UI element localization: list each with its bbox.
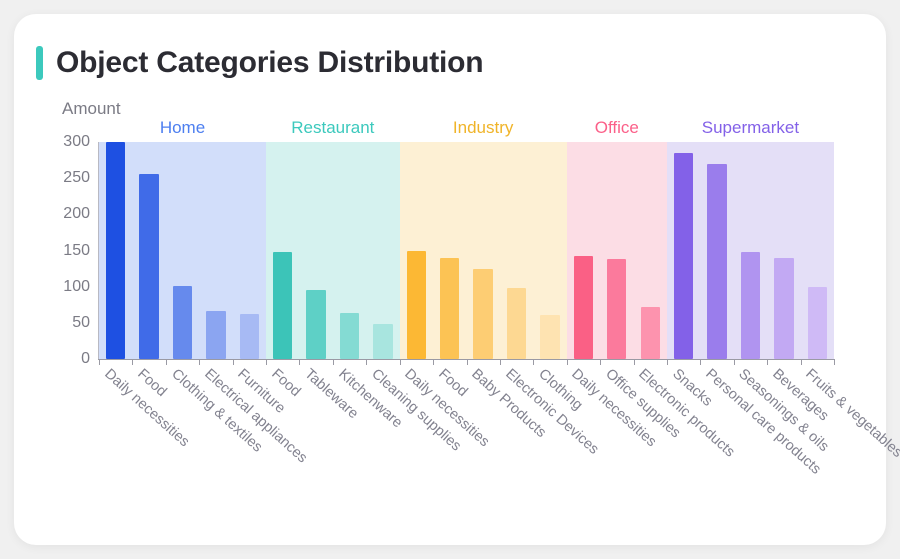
- bar-slot[interactable]: [199, 142, 232, 359]
- bar-group-office: Office: [567, 142, 667, 359]
- bar-slot[interactable]: [166, 142, 199, 359]
- group-label-restaurant: Restaurant: [266, 118, 400, 138]
- bar-slot[interactable]: [767, 142, 800, 359]
- group-label-supermarket: Supermarket: [667, 118, 834, 138]
- x-axis-tick-mark: [500, 359, 501, 365]
- x-axis-tick-mark: [132, 359, 133, 365]
- x-axis-tick-mark: [266, 359, 267, 365]
- y-axis-tick-label: 50: [72, 314, 90, 332]
- bar[interactable]: [641, 307, 660, 359]
- x-axis-tick-mark: [767, 359, 768, 365]
- bar-slot[interactable]: [567, 142, 600, 359]
- x-axis-tick-mark: [333, 359, 334, 365]
- y-axis-tick-label: 0: [81, 350, 90, 368]
- group-label-industry: Industry: [400, 118, 567, 138]
- bar[interactable]: [206, 311, 225, 359]
- bar[interactable]: [607, 259, 626, 359]
- screenshot-root: Object Categories Distribution Amount 30…: [0, 0, 900, 559]
- x-axis-tick-mark: [199, 359, 200, 365]
- x-axis-tick-mark: [433, 359, 434, 365]
- bar-slot[interactable]: [500, 142, 533, 359]
- bar[interactable]: [808, 287, 827, 359]
- bar[interactable]: [273, 252, 292, 359]
- bar[interactable]: [707, 164, 726, 359]
- x-axis-tick-mark: [667, 359, 668, 365]
- x-axis-tick-mark: [166, 359, 167, 365]
- bar[interactable]: [473, 269, 492, 359]
- x-axis-tick-mark: [600, 359, 601, 365]
- bar-slot[interactable]: [333, 142, 366, 359]
- bar-slot[interactable]: [233, 142, 266, 359]
- bar-slot[interactable]: [533, 142, 566, 359]
- x-axis-tick-mark: [233, 359, 234, 365]
- bar-group-industry: Industry: [400, 142, 567, 359]
- bar-slot[interactable]: [366, 142, 399, 359]
- x-axis-tick-mark: [299, 359, 300, 365]
- bar[interactable]: [774, 258, 793, 359]
- x-axis-tick-mark: [734, 359, 735, 365]
- x-axis-tick-mark: [533, 359, 534, 365]
- y-axis-tick-label: 200: [63, 205, 90, 223]
- y-axis-tick-label: 250: [63, 169, 90, 187]
- bar[interactable]: [540, 315, 559, 359]
- bar[interactable]: [407, 251, 426, 360]
- bar[interactable]: [106, 142, 125, 359]
- bar-slot[interactable]: [667, 142, 700, 359]
- bar-slot[interactable]: [801, 142, 834, 359]
- chart-card: Object Categories Distribution Amount 30…: [14, 14, 886, 545]
- x-axis-tick-mark: [801, 359, 802, 365]
- bar[interactable]: [574, 256, 593, 359]
- bar[interactable]: [507, 288, 526, 359]
- x-axis-tick-mark: [99, 359, 100, 365]
- bar-slot[interactable]: [734, 142, 767, 359]
- bar-group-home: Home: [99, 142, 266, 359]
- bar-slot[interactable]: [634, 142, 667, 359]
- plot-area: 300250200150100500 HomeRestaurantIndustr…: [99, 142, 834, 359]
- x-axis-tick-mark: [834, 359, 835, 365]
- bar[interactable]: [340, 313, 359, 359]
- y-axis-tick-label: 150: [63, 242, 90, 260]
- bar-slot[interactable]: [266, 142, 299, 359]
- x-axis-tick-mark: [700, 359, 701, 365]
- bar[interactable]: [173, 286, 192, 359]
- bar-slot[interactable]: [299, 142, 332, 359]
- bar[interactable]: [741, 252, 760, 359]
- x-axis-tick-mark: [634, 359, 635, 365]
- bar[interactable]: [306, 290, 325, 359]
- bar-slot[interactable]: [433, 142, 466, 359]
- x-axis-tick-mark: [400, 359, 401, 365]
- bar-group-restaurant: Restaurant: [266, 142, 400, 359]
- bar[interactable]: [240, 314, 259, 359]
- bar[interactable]: [440, 258, 459, 359]
- page-title: Object Categories Distribution: [56, 46, 483, 80]
- group-label-home: Home: [99, 118, 266, 138]
- card-header: Object Categories Distribution: [36, 46, 483, 80]
- y-axis-tick-label: 300: [63, 133, 90, 151]
- title-accent-bar: [36, 46, 43, 80]
- bar[interactable]: [139, 174, 158, 359]
- bar-slot[interactable]: [99, 142, 132, 359]
- bar-slot[interactable]: [700, 142, 733, 359]
- x-axis-tick-mark: [567, 359, 568, 365]
- bar[interactable]: [373, 324, 392, 359]
- bar-slot[interactable]: [600, 142, 633, 359]
- bar-slot[interactable]: [132, 142, 165, 359]
- y-axis-title: Amount: [62, 99, 121, 119]
- group-label-office: Office: [567, 118, 667, 138]
- bar-group-supermarket: Supermarket: [667, 142, 834, 359]
- x-axis-tick-mark: [366, 359, 367, 365]
- y-axis-tick-label: 100: [63, 278, 90, 296]
- bar-slot[interactable]: [400, 142, 433, 359]
- x-axis-labels: Daily necessitiesFoodClothing & textiles…: [99, 366, 834, 536]
- x-axis-tick-mark: [467, 359, 468, 365]
- bar-groups: HomeRestaurantIndustryOfficeSupermarket: [99, 142, 834, 359]
- bar-slot[interactable]: [466, 142, 499, 359]
- bar[interactable]: [674, 153, 693, 359]
